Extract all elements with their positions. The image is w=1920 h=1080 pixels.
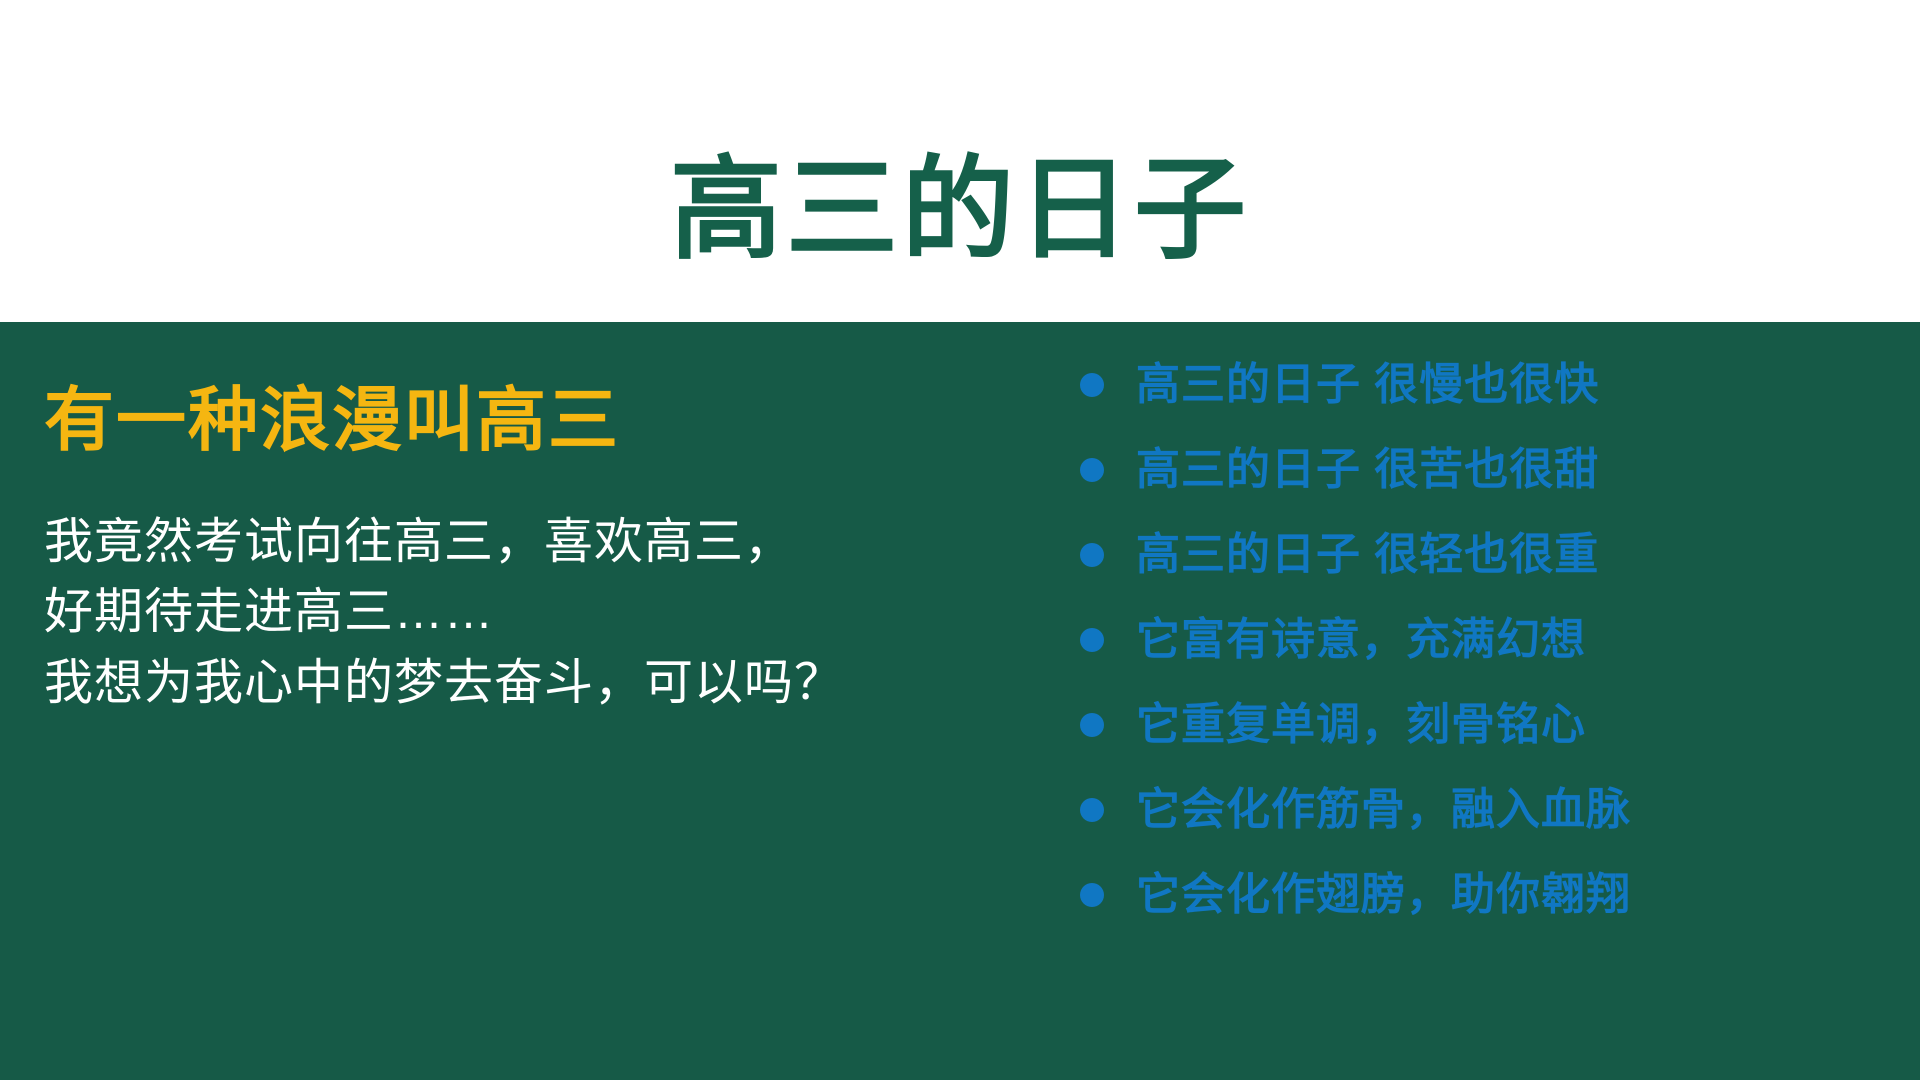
list-item: 它会化作筋骨，融入血脉 bbox=[1080, 767, 1880, 852]
bullet-list: 高三的日子 很慢也很快 高三的日子 很苦也很甜 高三的日子 很轻也很重 它富有诗… bbox=[1080, 342, 1880, 937]
title-band: 高三的日子 bbox=[0, 0, 1920, 322]
list-item-label: 高三的日子 很轻也很重 bbox=[1136, 533, 1599, 577]
list-item: 它重复单调，刻骨铭心 bbox=[1080, 682, 1880, 767]
list-item: 高三的日子 很轻也很重 bbox=[1080, 512, 1880, 597]
right-column: 高三的日子 很慢也很快 高三的日子 很苦也很甜 高三的日子 很轻也很重 它富有诗… bbox=[1080, 342, 1880, 937]
list-item: 它会化作翅膀，助你翱翔 bbox=[1080, 852, 1880, 937]
bullet-dot-icon bbox=[1080, 883, 1104, 907]
left-paragraph-line: 好期待走进高三…… bbox=[44, 577, 1024, 648]
content-band: 有一种浪漫叫高三 我竟然考试向往高三，喜欢高三， 好期待走进高三…… 我想为我心… bbox=[0, 322, 1920, 1080]
left-paragraph: 我竟然考试向往高三，喜欢高三， 好期待走进高三…… 我想为我心中的梦去奋斗，可以… bbox=[44, 507, 1024, 719]
list-item: 它富有诗意，充满幻想 bbox=[1080, 597, 1880, 682]
slide-root: 高三的日子 有一种浪漫叫高三 我竟然考试向往高三，喜欢高三， 好期待走进高三……… bbox=[0, 0, 1920, 1080]
left-paragraph-line: 我竟然考试向往高三，喜欢高三， bbox=[44, 507, 1024, 578]
list-item-label: 高三的日子 很慢也很快 bbox=[1136, 363, 1599, 407]
list-item: 高三的日子 很慢也很快 bbox=[1080, 342, 1880, 427]
left-heading: 有一种浪漫叫高三 bbox=[44, 380, 1024, 461]
bullet-dot-icon bbox=[1080, 798, 1104, 822]
list-item-label: 它会化作翅膀，助你翱翔 bbox=[1136, 873, 1631, 917]
list-item-label: 它重复单调，刻骨铭心 bbox=[1136, 703, 1586, 747]
bullet-dot-icon bbox=[1080, 543, 1104, 567]
list-item-label: 它富有诗意，充满幻想 bbox=[1136, 618, 1586, 662]
page-title: 高三的日子 bbox=[0, 143, 1920, 277]
bullet-dot-icon bbox=[1080, 458, 1104, 482]
bullet-dot-icon bbox=[1080, 373, 1104, 397]
bullet-dot-icon bbox=[1080, 713, 1104, 737]
left-column: 有一种浪漫叫高三 我竟然考试向往高三，喜欢高三， 好期待走进高三…… 我想为我心… bbox=[44, 380, 1024, 718]
list-item-label: 高三的日子 很苦也很甜 bbox=[1136, 448, 1599, 492]
left-paragraph-line: 我想为我心中的梦去奋斗，可以吗？ bbox=[44, 648, 1024, 719]
list-item: 高三的日子 很苦也很甜 bbox=[1080, 427, 1880, 512]
bullet-dot-icon bbox=[1080, 628, 1104, 652]
list-item-label: 它会化作筋骨，融入血脉 bbox=[1136, 788, 1631, 832]
